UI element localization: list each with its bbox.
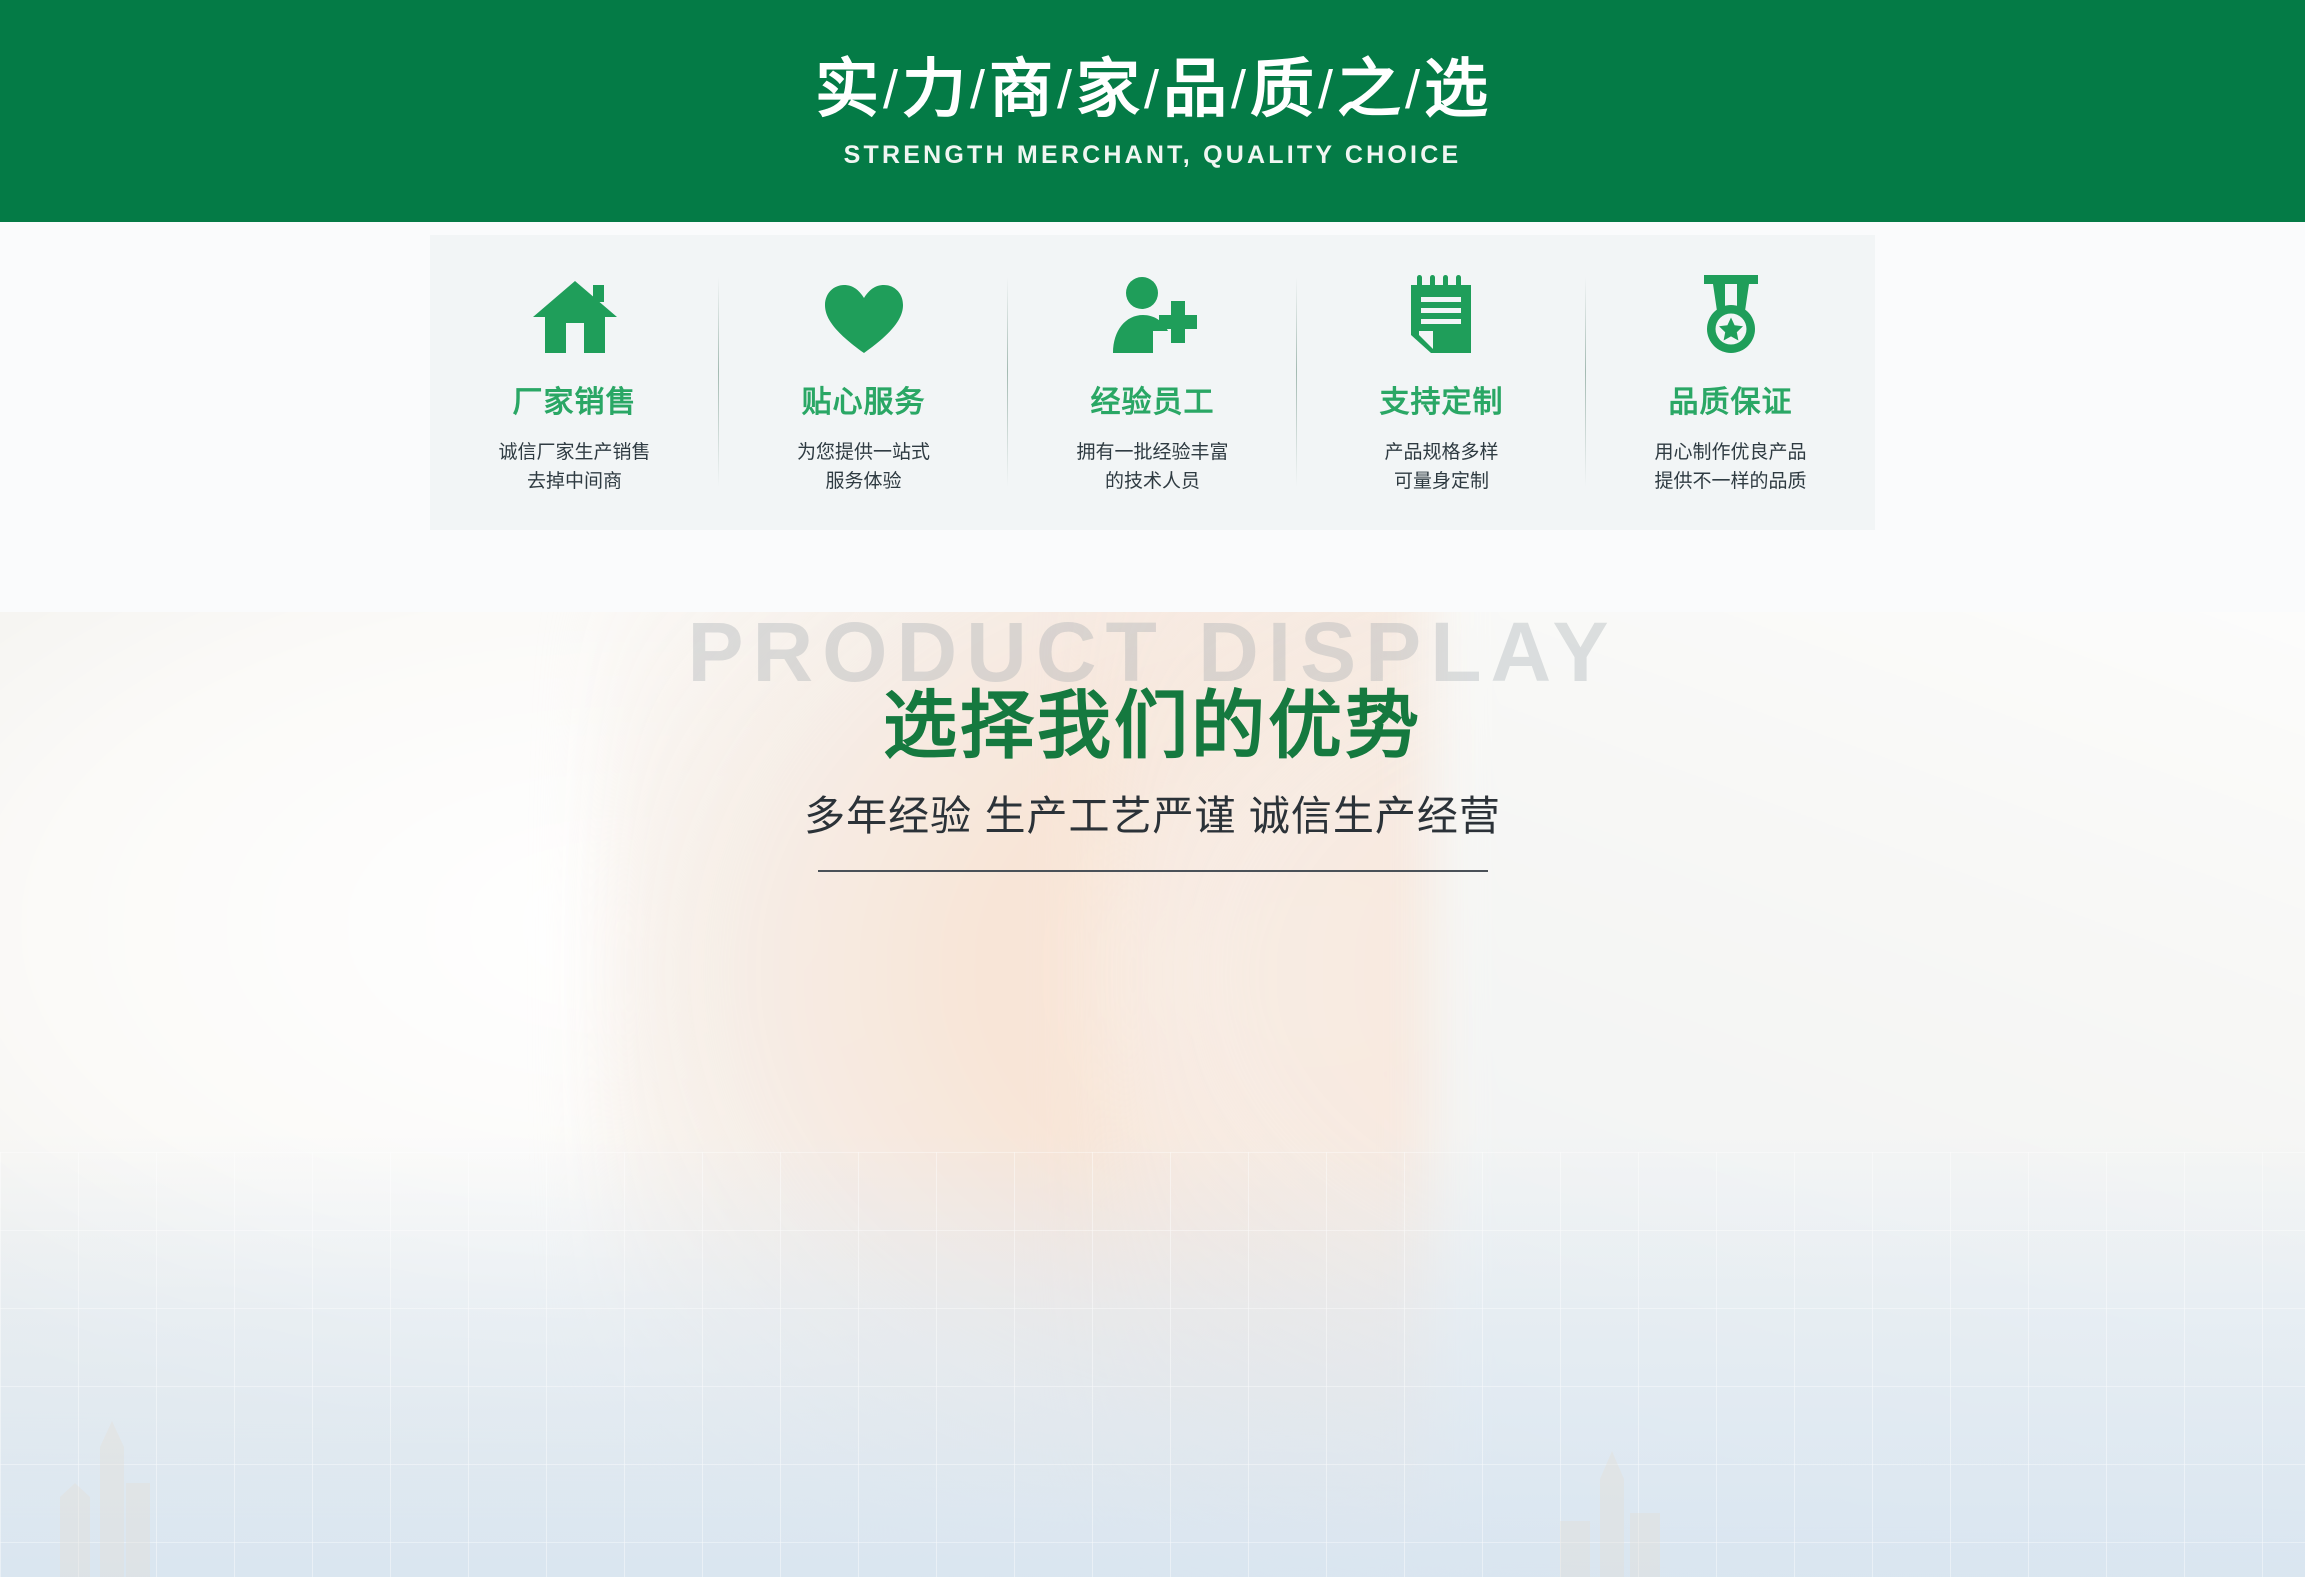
notepad-icon <box>1409 273 1475 355</box>
header-title-separator: / <box>1403 60 1424 120</box>
header-title-cn: 实/力/商/家/品/质/之/选 <box>815 56 1490 123</box>
header-title-separator: / <box>1229 60 1250 120</box>
header-title-char: 家 <box>1076 53 1142 125</box>
feature-desc: 诚信厂家生产销售 去掉中间商 <box>498 438 650 497</box>
feature-title: 经验员工 <box>1091 377 1215 421</box>
header-title-char: 品 <box>1163 53 1229 125</box>
header-title-separator: / <box>1142 60 1163 120</box>
features-panel: 厂家销售 诚信厂家生产销售 去掉中间商 贴心服务 为您提供一站式 服务体验 <box>430 235 1875 530</box>
header-title-separator: / <box>881 60 902 120</box>
feature-desc-line: 拥有一批经验丰富 <box>1076 438 1228 467</box>
feature-desc: 用心制作优良产品 提供不一样的品质 <box>1654 438 1806 497</box>
feature-desc: 为您提供一站式 服务体验 <box>797 438 930 497</box>
feature-title: 厂家销售 <box>513 377 637 421</box>
header-title-separator: / <box>1055 60 1076 120</box>
feature-title: 支持定制 <box>1380 377 1504 421</box>
feature-item-quality-guarantee[interactable]: 品质保证 用心制作优良产品 提供不一样的品质 <box>1586 235 1875 530</box>
advantage-section: PRODUCT DISPLAY 选择我们的优势 多年经验 生产工艺严谨 诚信生产… <box>0 612 2305 1577</box>
feature-desc-line: 提供不一样的品质 <box>1654 467 1806 496</box>
feature-desc-line: 去掉中间商 <box>498 467 650 496</box>
feature-title: 品质保证 <box>1669 377 1793 421</box>
cityscape-silhouette-icon <box>0 1387 2305 1577</box>
header-title-char: 质 <box>1250 53 1316 125</box>
feature-desc-line: 的技术人员 <box>1076 467 1228 496</box>
header-title-separator: / <box>968 60 989 120</box>
user-plus-icon <box>1109 273 1197 355</box>
feature-item-caring-service[interactable]: 贴心服务 为您提供一站式 服务体验 <box>719 235 1008 530</box>
header-title-char: 力 <box>902 53 968 125</box>
feature-item-experienced-staff[interactable]: 经验员工 拥有一批经验丰富 的技术人员 <box>1008 235 1297 530</box>
header-banner: 实/力/商/家/品/质/之/选 STRENGTH MERCHANT, QUALI… <box>0 0 2305 222</box>
advantage-title: 选择我们的优势 <box>0 666 2305 773</box>
page-root: 实/力/商/家/品/质/之/选 STRENGTH MERCHANT, QUALI… <box>0 0 2305 1577</box>
header-title-char: 实 <box>815 53 881 125</box>
features-band: 厂家销售 诚信厂家生产销售 去掉中间商 贴心服务 为您提供一站式 服务体验 <box>0 222 2305 612</box>
header-title-char: 之 <box>1337 53 1403 125</box>
feature-desc: 产品规格多样 可量身定制 <box>1384 438 1498 497</box>
medal-icon <box>1696 273 1766 355</box>
feature-item-manufacturer-sales[interactable]: 厂家销售 诚信厂家生产销售 去掉中间商 <box>430 235 719 530</box>
feature-desc-line: 服务体验 <box>797 467 930 496</box>
feature-desc-line: 产品规格多样 <box>1384 438 1498 467</box>
feature-desc-line: 为您提供一站式 <box>797 438 930 467</box>
feature-desc: 拥有一批经验丰富 的技术人员 <box>1076 438 1228 497</box>
advantage-subtitle: 多年经验 生产工艺严谨 诚信生产经营 <box>0 782 2305 842</box>
feature-desc-line: 诚信厂家生产销售 <box>498 438 650 467</box>
house-icon <box>531 273 619 355</box>
header-title-char: 商 <box>989 53 1055 125</box>
feature-desc-line: 可量身定制 <box>1384 467 1498 496</box>
feature-title: 贴心服务 <box>802 377 926 421</box>
header-title-separator: / <box>1316 60 1337 120</box>
feature-item-customization[interactable]: 支持定制 产品规格多样 可量身定制 <box>1297 235 1586 530</box>
feature-desc-line: 用心制作优良产品 <box>1654 438 1806 467</box>
heart-icon <box>823 273 905 355</box>
header-subtitle-en: STRENGTH MERCHANT, QUALITY CHOICE <box>844 141 1462 170</box>
header-title-char: 选 <box>1424 53 1490 125</box>
advantage-divider <box>818 870 1488 872</box>
